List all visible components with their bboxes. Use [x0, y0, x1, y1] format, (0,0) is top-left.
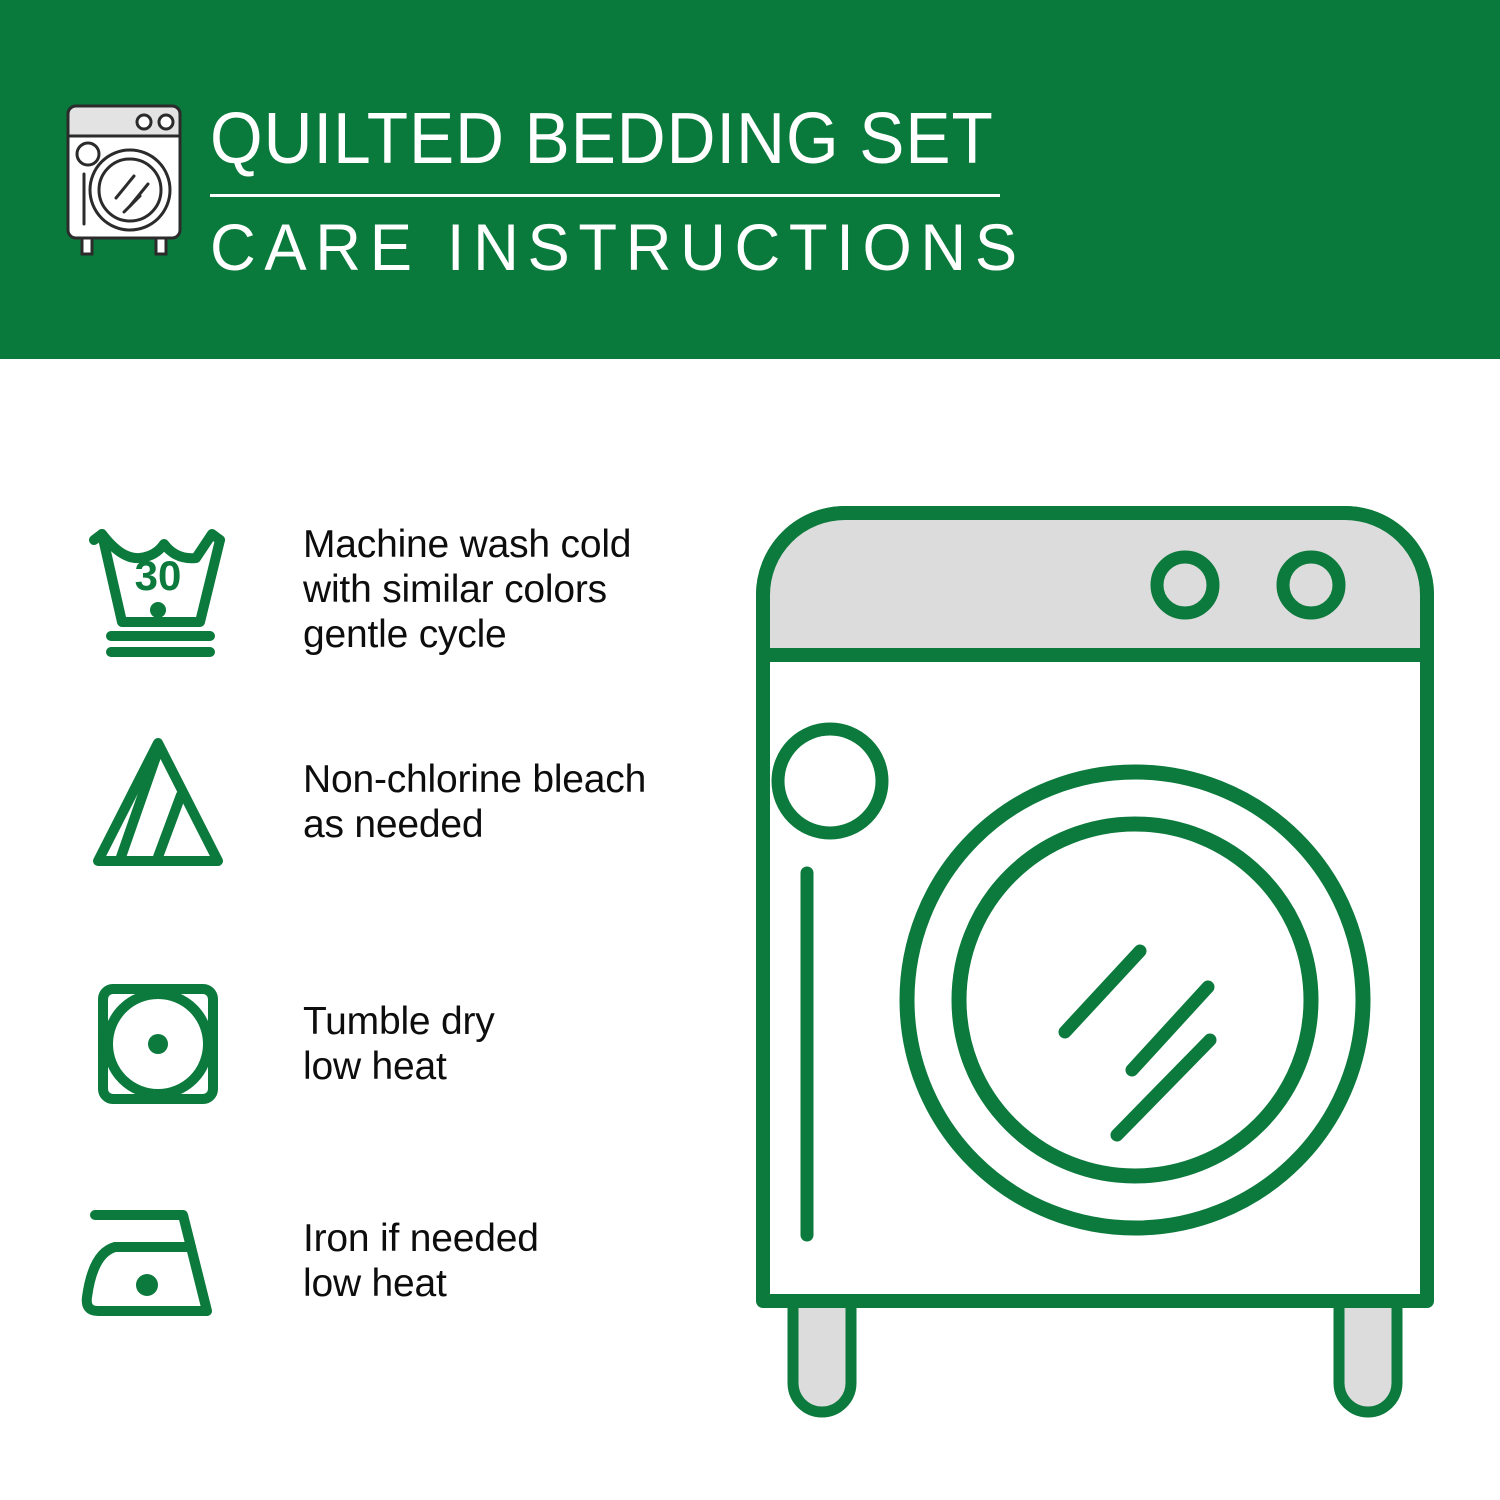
- washing-machine-icon: [60, 98, 188, 258]
- page-title: QUILTED BEDDING SET: [210, 100, 962, 178]
- dispenser-indicator-icon: [778, 729, 882, 833]
- care-instruction-list: 30 Machine wash cold with similar colors…: [0, 359, 730, 1500]
- machine-legs: [793, 1295, 1397, 1412]
- care-item-bleach-text: Non-chlorine bleach as needed: [303, 757, 646, 847]
- iron-low-heat-icon: [70, 1191, 245, 1331]
- care-item-tumble-dry: Tumble dry low heat: [70, 969, 710, 1119]
- care-text-line-2: with similar colors: [303, 567, 631, 612]
- care-text-line-1: Tumble dry: [303, 999, 495, 1044]
- care-item-bleach: Non-chlorine bleach as needed: [70, 727, 710, 877]
- title-block: QUILTED BEDDING SET CARE INSTRUCTIONS: [210, 98, 1010, 283]
- bleach-triangle-non-chlorine-icon: [70, 727, 245, 877]
- tumble-dry-low-icon: [70, 969, 245, 1119]
- header-banner: QUILTED BEDDING SET CARE INSTRUCTIONS: [0, 0, 1500, 359]
- care-item-wash: 30 Machine wash cold with similar colors…: [70, 514, 710, 664]
- care-text-line-2: low heat: [303, 1044, 495, 1089]
- wash-temperature-label: 30: [134, 552, 181, 599]
- care-text-line-2: low heat: [303, 1261, 539, 1306]
- title-divider: [210, 194, 1000, 197]
- page-subtitle: CARE INSTRUCTIONS: [210, 211, 978, 283]
- care-text-line-2: as needed: [303, 802, 646, 847]
- care-text-line-1: Iron if needed: [303, 1216, 539, 1261]
- care-text-line-1: Non-chlorine bleach: [303, 757, 646, 802]
- control-knob-left: [1157, 557, 1213, 613]
- care-text-line-1: Machine wash cold: [303, 522, 631, 567]
- wash-tub-30-gentle-icon: 30: [70, 514, 245, 664]
- front-load-washing-machine-illustration: [745, 495, 1445, 1425]
- care-item-tumble-dry-text: Tumble dry low heat: [303, 999, 495, 1089]
- care-item-wash-text: Machine wash cold with similar colors ge…: [303, 522, 631, 657]
- care-text-line-3: gentle cycle: [303, 612, 631, 657]
- care-item-iron: Iron if needed low heat: [70, 1191, 710, 1331]
- header-content: QUILTED BEDDING SET CARE INSTRUCTIONS: [60, 98, 1010, 283]
- care-item-iron-text: Iron if needed low heat: [303, 1216, 539, 1306]
- control-knob-right: [1283, 557, 1339, 613]
